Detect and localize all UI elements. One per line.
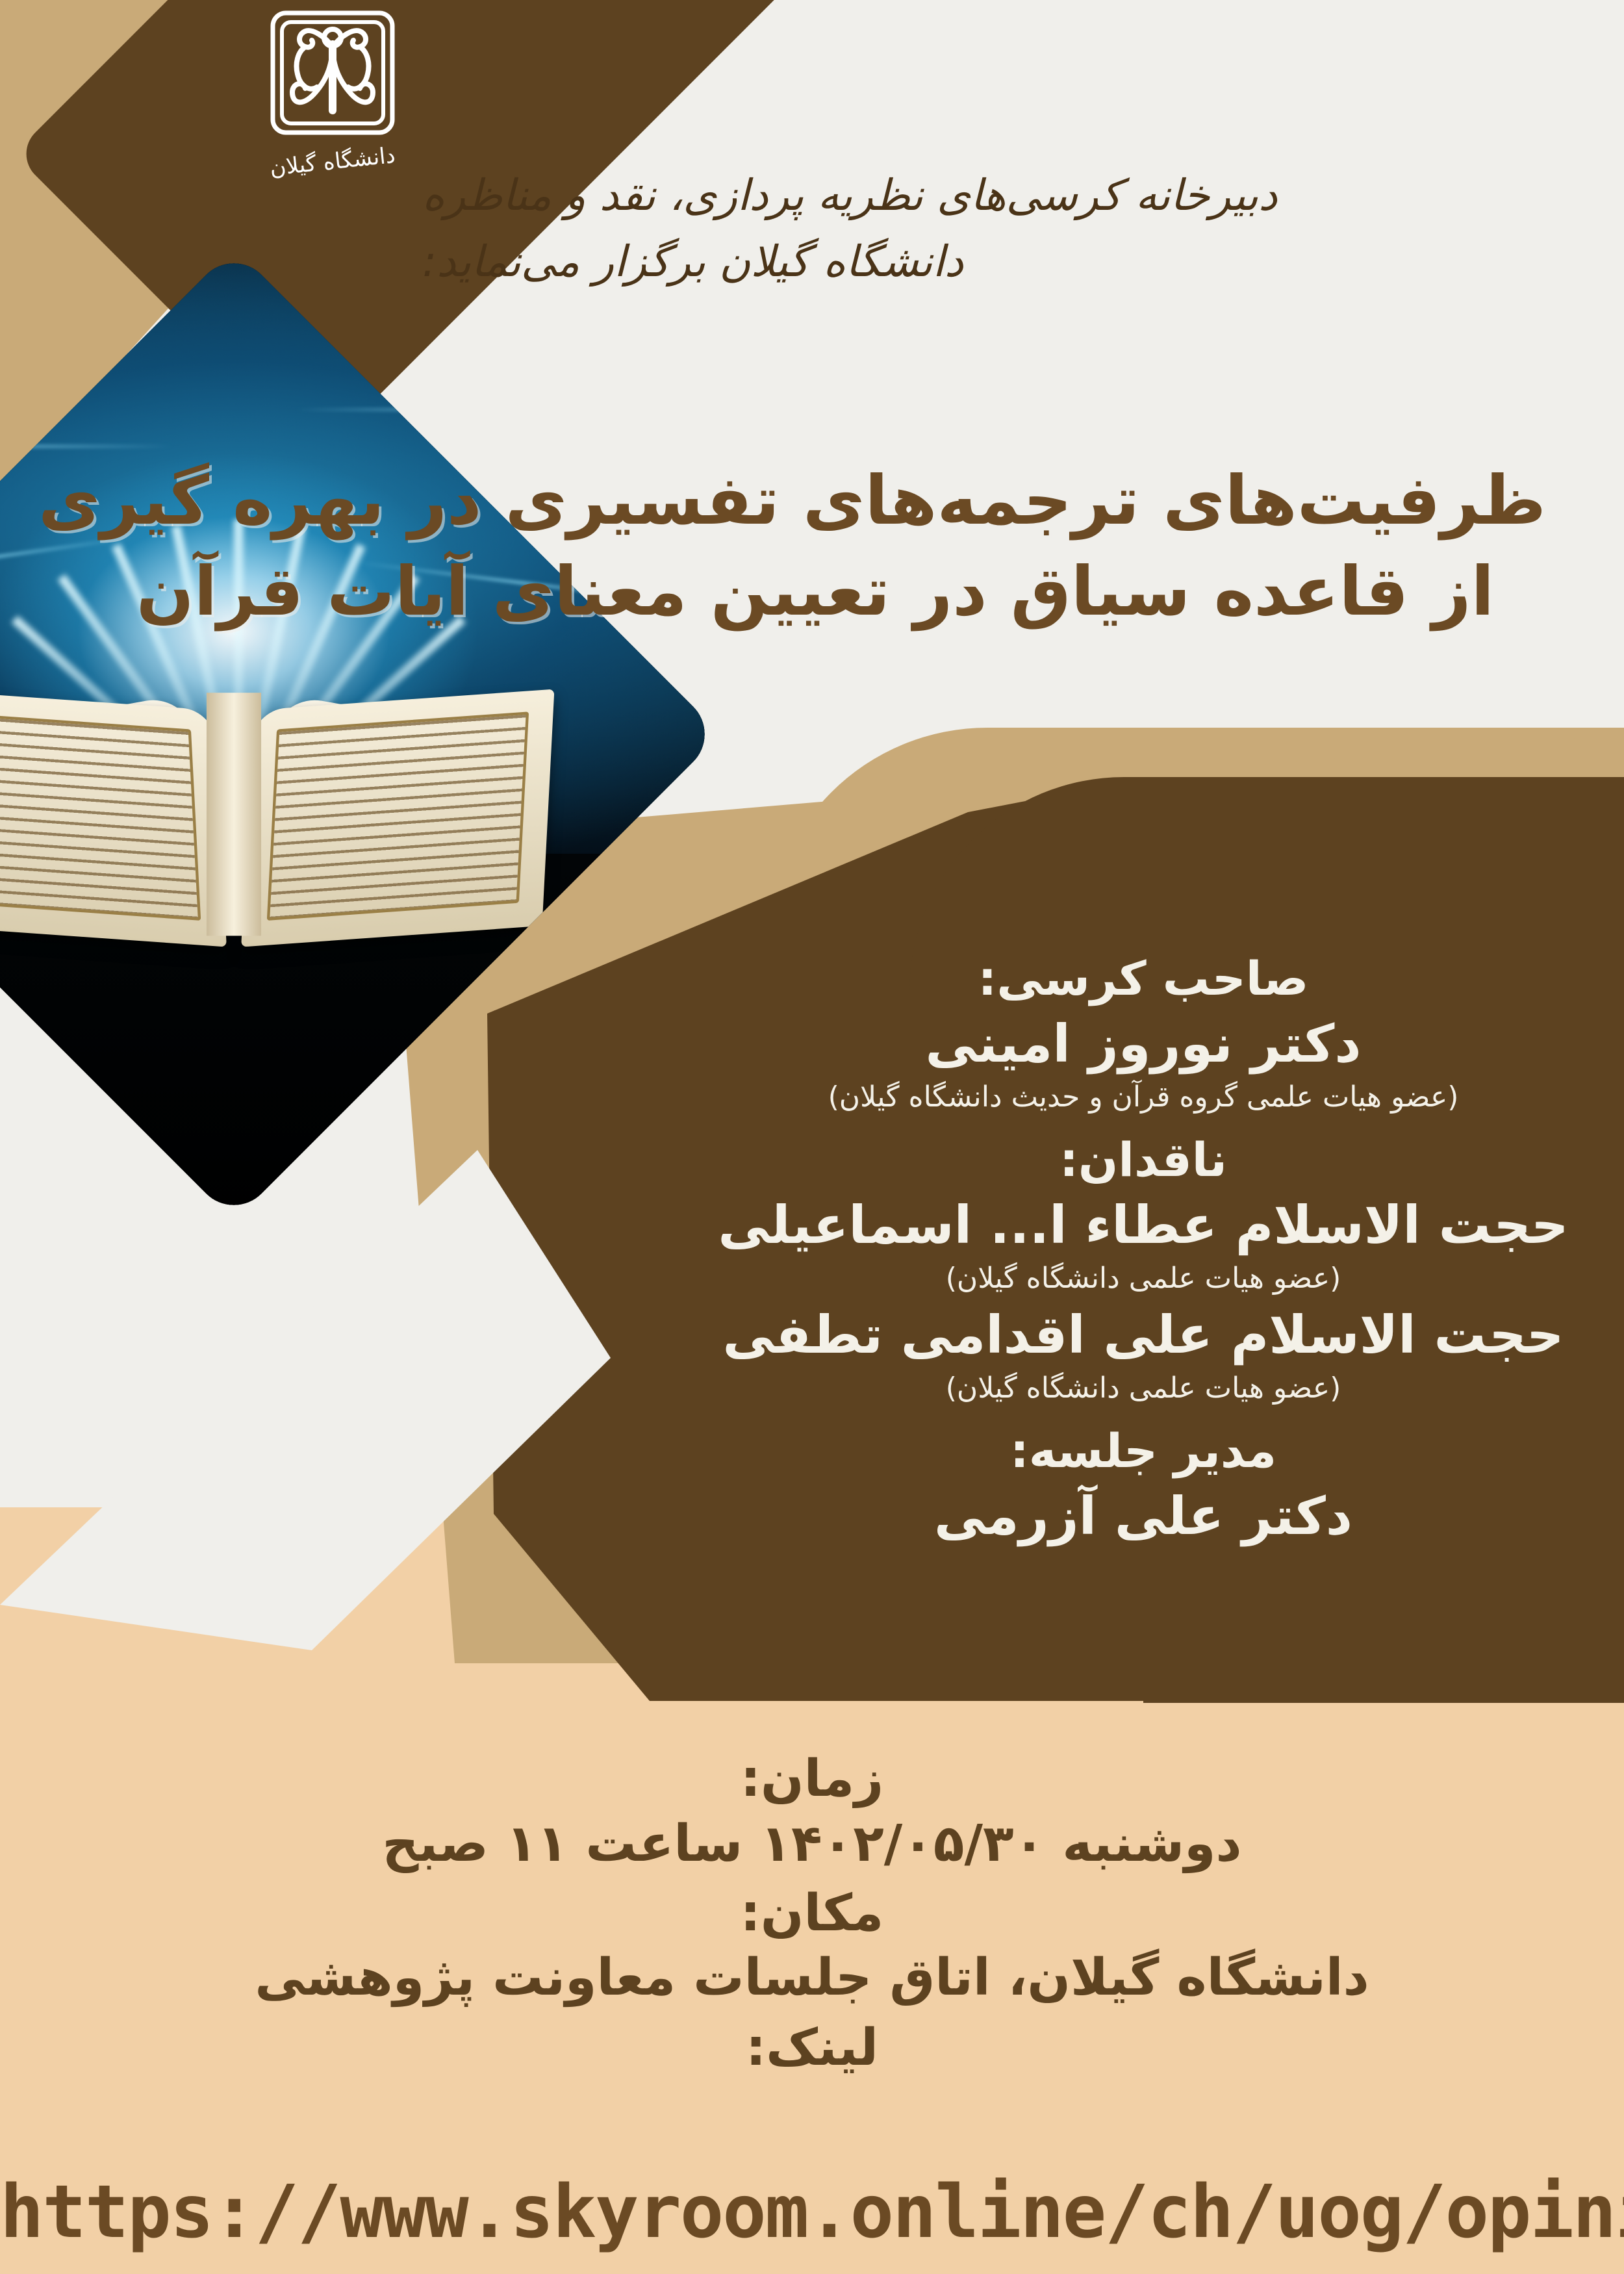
chair-name: دکتر نوروز امینی xyxy=(702,1010,1585,1078)
place-label: مکان: xyxy=(0,1882,1624,1946)
chair-affiliation: (عضو هیات علمی گروه قرآن و حدیث دانشگاه … xyxy=(702,1078,1585,1116)
moderator-label: مدیر جلسه: xyxy=(702,1420,1585,1483)
footer-block: زمان: دوشنبه ۱۴۰۲/۰۵/۳۰ ساعت ۱۱ صبح مکان… xyxy=(0,1748,1624,2080)
page-title: ظرفیت‌های ترجمه‌های تفسیری در بهره گیری … xyxy=(84,455,1546,637)
critic-1-name: حجت الاسلام عطاء ا... اسماعیلی xyxy=(702,1192,1585,1259)
organizer-line-2: دانشگاه گیلان برگزار می‌نماید: xyxy=(422,229,1527,295)
critics-label: ناقدان: xyxy=(702,1129,1585,1192)
logo-university-name: دانشگاه گیلان xyxy=(269,144,396,179)
time-value: دوشنبه ۱۴۰۲/۰۵/۳۰ ساعت ۱۱ صبح xyxy=(0,1811,1624,1877)
event-poster: دانشگاه گیلان دبیرخانه کرسی‌های نظریه پر… xyxy=(0,0,1624,2274)
open-book xyxy=(0,653,554,936)
university-logo: دانشگاه گیلان xyxy=(261,9,404,224)
title-line-2: از قاعده سیاق در تعیین معنای آیات قرآن xyxy=(84,546,1546,637)
organizer-line-1: دبیرخانه کرسی‌های نظریه پردازی، نقد و من… xyxy=(422,162,1527,229)
critic-2-affiliation: (عضو هیات علمی دانشگاه گیلان) xyxy=(702,1369,1585,1407)
time-label: زمان: xyxy=(0,1748,1624,1811)
title-line-1: ظرفیت‌های ترجمه‌های تفسیری در بهره گیری xyxy=(84,455,1546,546)
chair-label: صاحب کرسی: xyxy=(702,947,1585,1010)
critic-1-affiliation: (عضو هیات علمی دانشگاه گیلان) xyxy=(702,1259,1585,1297)
place-value: دانشگاه گیلان، اتاق جلسات معاونت پژوهشی xyxy=(0,1945,1624,2011)
moderator-name: دکتر علی آزرمی xyxy=(702,1483,1585,1550)
meeting-link[interactable]: https://www.skyroom.online/ch/uog/opinio… xyxy=(0,2170,1624,2255)
university-of-guilan-emblem-icon xyxy=(269,9,396,149)
critic-2-name: حجت الاسلام علی اقدامی تطفی xyxy=(702,1301,1585,1369)
link-label: لینک: xyxy=(0,2017,1624,2080)
organizer-block: دبیرخانه کرسی‌های نظریه پردازی، نقد و من… xyxy=(422,162,1527,296)
people-block: صاحب کرسی: دکتر نوروز امینی (عضو هیات عل… xyxy=(702,936,1585,1550)
